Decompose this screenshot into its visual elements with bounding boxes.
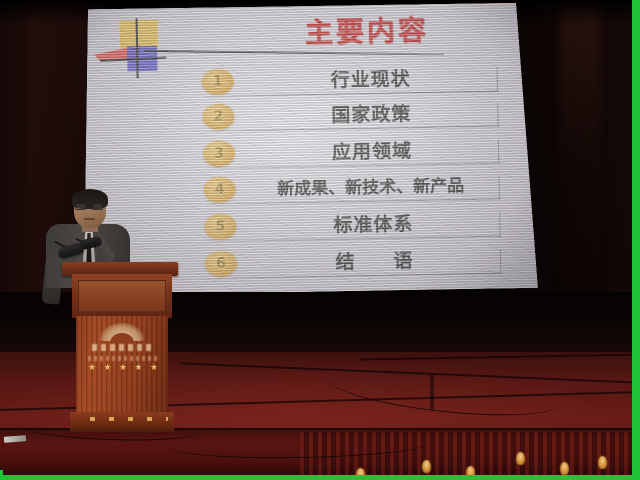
podium-sub-plate <box>88 356 158 361</box>
podium-name-plate <box>92 344 152 351</box>
capture-border-left <box>0 470 3 480</box>
footlight <box>422 460 431 473</box>
projection-screen: 主要内容 1 行业现状 2 国家政策 3 应用领域 <box>84 3 540 298</box>
logo-yellow-block <box>120 20 159 49</box>
slide-title: 主要内容 <box>231 7 502 53</box>
item-label: 行业现状 <box>236 62 504 94</box>
podium-desk-panel <box>78 280 166 312</box>
list-item: 5 标准体系 <box>99 206 540 248</box>
item-label: 标准体系 <box>239 207 507 239</box>
star-icon: ★ <box>88 364 96 373</box>
podium-star-rating: ★ ★ ★ ★ ★ <box>88 364 158 373</box>
capture-border-bottom <box>0 475 640 480</box>
item-label: 应用领域 <box>238 134 506 166</box>
list-item: 2 国家政策 <box>97 96 540 138</box>
glasses-right-lens <box>92 203 103 210</box>
presentation-slide: 主要内容 1 行业现状 2 国家政策 3 应用领域 <box>84 3 540 298</box>
podium-base <box>70 412 174 432</box>
item-label: 新成果、新技术、新产品 <box>220 170 520 200</box>
photo-scene: 主要内容 1 行业现状 2 国家政策 3 应用领域 <box>0 0 640 480</box>
list-item: 3 应用领域 <box>98 133 540 175</box>
star-icon: ★ <box>119 364 127 373</box>
item-number-badge: 3 <box>203 140 235 167</box>
podium-base-studs <box>76 417 168 421</box>
star-icon: ★ <box>150 364 158 373</box>
slide-agenda-list: 1 行业现状 2 国家政策 3 应用领域 <box>96 61 540 295</box>
item-number-badge: 2 <box>202 103 234 130</box>
star-icon: ★ <box>134 364 142 373</box>
footlight <box>560 462 569 475</box>
star-icon: ★ <box>103 364 111 373</box>
footlight <box>516 452 525 465</box>
item-number-badge: 5 <box>204 213 236 240</box>
list-item: 4 新成果、新技术、新产品 <box>98 169 540 211</box>
footlight <box>598 456 607 469</box>
item-label: 结 语 <box>240 244 508 276</box>
speaker-mouth <box>84 218 95 220</box>
right-wall-light-streak <box>560 0 600 300</box>
eyeglasses-icon <box>75 203 105 210</box>
glasses-left-lens <box>75 203 86 210</box>
item-number-badge: 1 <box>201 68 233 95</box>
item-number-badge: 6 <box>205 250 237 277</box>
capture-border-right <box>632 0 640 480</box>
item-label: 国家政策 <box>237 97 505 129</box>
